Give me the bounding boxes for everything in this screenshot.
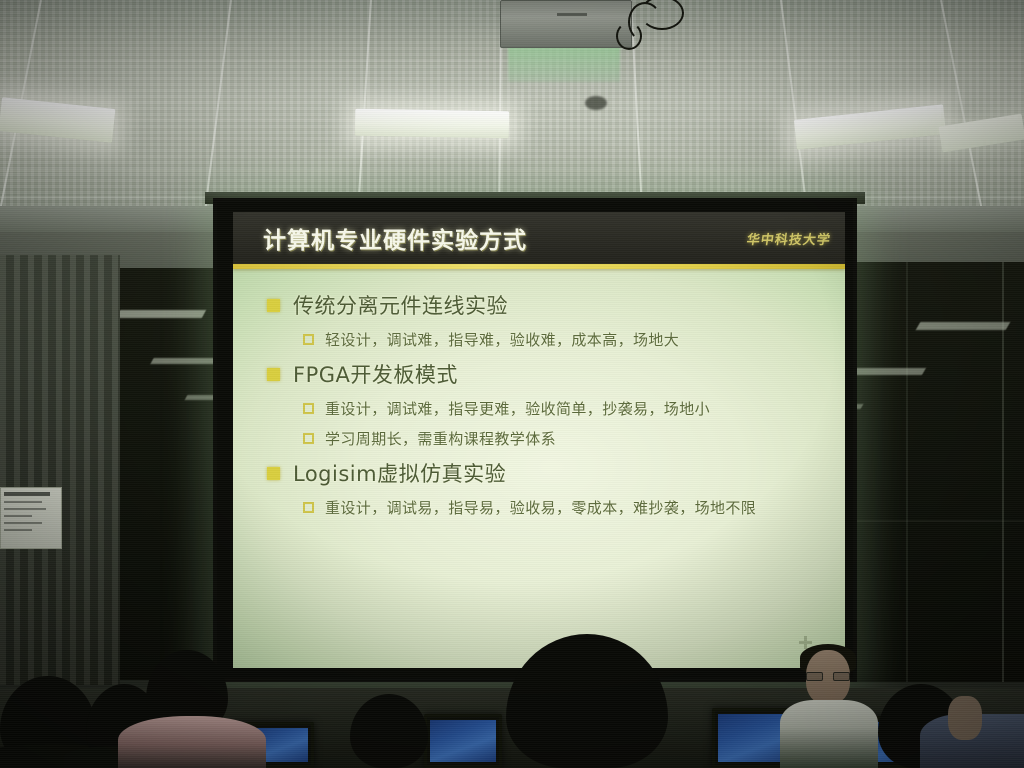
projector-beam-glow — [508, 44, 620, 82]
notice-line — [4, 501, 42, 503]
projected-slide: 计算机专业硬件实验方式 华中科技大学 传统分离元件连线实验 轻设计，调试难，指导… — [233, 212, 845, 668]
sub-bullet-text: 重设计，调试易，指导易，验收易，零成本，难抄袭，场地不限 — [325, 497, 756, 518]
sub-bullet-text: 轻设计，调试难，指导难，验收难，成本高，场地大 — [325, 329, 679, 350]
sub-bullet-text: 学习周期长，需重构课程教学体系 — [325, 428, 556, 449]
ceiling-blemish — [585, 96, 607, 110]
hollow-square-bullet-icon — [303, 403, 314, 414]
student-arm — [948, 696, 982, 740]
notice-line — [4, 522, 42, 524]
glasses-lens — [806, 672, 823, 681]
window-frame — [856, 520, 1024, 522]
slide-bullet-level1: Logisim虚拟仿真实验 — [267, 458, 821, 488]
slide-bullet-level2: 重设计，调试难，指导更难，验收简单，抄袭易，场地小 — [303, 398, 821, 419]
bullet-text: Logisim虚拟仿真实验 — [293, 458, 506, 488]
slide-bullet-level2: 学习周期长，需重构课程教学体系 — [303, 428, 821, 449]
projection-screen-frame: 计算机专业硬件实验方式 华中科技大学 传统分离元件连线实验 轻设计，调试难，指导… — [213, 198, 857, 682]
notice-line — [4, 508, 46, 510]
window-reflection — [850, 368, 926, 375]
projector-cable — [616, 22, 642, 50]
presenter-torso — [780, 700, 878, 768]
hollow-square-bullet-icon — [303, 334, 314, 345]
window-reflection — [916, 322, 1011, 330]
filled-square-bullet-icon — [267, 299, 280, 312]
slide-title-divider — [233, 264, 845, 269]
filled-square-bullet-icon — [267, 467, 280, 480]
presenter-glasses-icon — [806, 672, 850, 681]
slide-bullet-level1: FPGA开发板模式 — [267, 359, 821, 389]
hollow-square-bullet-icon — [303, 502, 314, 513]
hollow-square-bullet-icon — [303, 433, 314, 444]
bullet-text: 传统分离元件连线实验 — [293, 290, 508, 320]
monitor-screen — [430, 720, 496, 762]
slide-bullet-level2: 轻设计，调试难，指导难，验收难，成本高，场地大 — [303, 329, 821, 350]
slide-title: 计算机专业硬件实验方式 — [263, 221, 527, 255]
window-reflection — [150, 358, 219, 364]
window-frame — [906, 262, 908, 682]
wall-notice-sign — [0, 487, 62, 549]
ceiling-seam — [0, 170, 1024, 172]
lecture-hall-photo: 计算机专业硬件实验方式 华中科技大学 传统分离元件连线实验 轻设计，调试难，指导… — [0, 0, 1024, 768]
bullet-text: FPGA开发板模式 — [293, 359, 458, 389]
glasses-lens — [833, 672, 850, 681]
ceiling-light — [355, 109, 509, 139]
window-reflection — [116, 310, 206, 318]
slide-title-bar: 计算机专业硬件实验方式 华中科技大学 — [233, 212, 845, 264]
student-torso — [118, 716, 266, 768]
notice-line — [4, 515, 32, 517]
slide-bullet-level2: 重设计，调试易，指导易，验收易，零成本，难抄袭，场地不限 — [303, 497, 821, 518]
notice-line — [4, 492, 50, 496]
notice-line — [4, 529, 32, 531]
ceiling-projector — [500, 0, 632, 48]
acoustic-tile-ceiling — [0, 0, 1024, 212]
slide-bullet-level1: 传统分离元件连线实验 — [267, 290, 821, 320]
slide-content: 传统分离元件连线实验 轻设计，调试难，指导难，验收难，成本高，场地大 FPGA开… — [233, 274, 845, 518]
left-window-panel — [108, 268, 220, 680]
projector-vent — [557, 13, 587, 16]
student-monitor — [424, 714, 502, 768]
filled-square-bullet-icon — [267, 368, 280, 381]
university-logo: 华中科技大学 — [746, 229, 833, 248]
sub-bullet-text: 重设计，调试难，指导更难，验收简单，抄袭易，场地小 — [325, 398, 710, 419]
window-curtain — [0, 255, 120, 685]
